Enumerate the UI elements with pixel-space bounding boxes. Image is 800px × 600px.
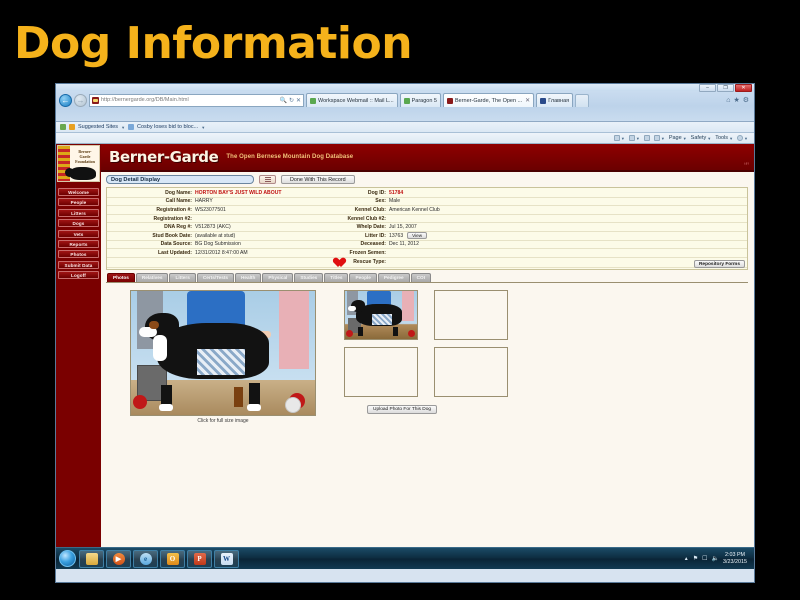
powerpoint-icon: P [194,553,206,565]
outlook-icon: O [167,553,179,565]
chrome-right-icons: ⌂ ★ ⚙ [726,96,752,104]
volume-icon[interactable]: 🔈 [712,555,719,562]
internet-explorer-icon: e [140,553,152,565]
red-heart-icon [335,258,346,268]
chevron-down-icon: ▼ [636,136,640,141]
table-row: Dog Name:HORTON BAY'S JUST WILD ABOUT Do… [107,189,747,198]
tab-label: Workspace Webmail :: Mail L... [318,98,394,104]
list-view-bars [265,177,271,182]
browser-tab-glavnaya[interactable]: Главная [536,93,573,107]
word-icon: W [221,553,233,565]
repository-forms-button[interactable]: Repository Forms [694,260,745,268]
field-value-data-source: BG Dog Submission [195,241,241,247]
field-value-litter-id: 13763 [389,233,403,239]
page-title: Dog Information [14,18,412,69]
command-print[interactable]: ▼ [654,135,665,141]
home-icon[interactable] [60,124,66,130]
taskbar-outlook[interactable]: O [160,550,185,568]
address-bar[interactable]: http://bernergarde.org/DB/Main.html 🔍 ↻ … [89,94,304,107]
command-page-menu[interactable]: Page▼ [669,135,687,141]
tab-physical[interactable]: Physical [262,273,293,282]
show-hidden-icon[interactable]: ▲ [684,556,689,562]
browser-chrome: – ❐ ✕ ← → http://bernergarde.org/DB/Main… [56,84,754,122]
feeds-icon [629,135,635,141]
photo-thumbnail-1[interactable] [344,290,418,340]
bernergarde-favicon [92,97,99,104]
tab-litters[interactable]: Litters [169,273,195,282]
photo-slot-empty-2[interactable] [344,347,418,397]
sidebar-item-vets[interactable]: Vets [58,230,99,238]
table-row: Registration #:WS23077501 Kennel Club:Am… [107,206,747,215]
field-value-deceased: Dec 11, 2012 [389,241,419,247]
sidebar-item-submit-data[interactable]: Submit Data [58,261,99,269]
sidebar-item-logoff[interactable]: Logoff [58,271,99,279]
field-value-dog-id: 51784 [389,190,403,196]
sidebar-nav: Welcome People Litters Dogs Vets Reports… [58,188,99,282]
record-toolbar: Dog Detail Display Done With This Record [106,175,748,184]
site-main: Berner-Garde The Open Bernese Mountain D… [101,144,754,547]
photo-slot-empty-3[interactable] [434,347,508,397]
window-controls: – ❐ ✕ [699,84,752,92]
field-label-deceased: Deceased: [305,241,389,247]
taskbar-word[interactable]: W [214,550,239,568]
banner-corner-mark: “” [744,161,748,171]
logo-text: Berner- Garde Foundation [71,149,99,164]
table-row: Rescue Type: [107,258,747,268]
presentation-slide: Dog Information – ❐ ✕ ← → http://bernerg… [0,0,800,600]
browser-tab-berner-garde[interactable]: Berner-Garde, The Open ... ✕ [443,93,534,107]
media-player-icon: ▶ [113,553,125,565]
close-tab-icon[interactable]: ✕ [525,97,530,104]
field-label-last-updated: Last Updated: [109,250,195,256]
thumbnail-row [344,290,534,340]
windows-start-orb[interactable] [59,550,76,567]
table-row: Call Name:HARRY Sex:Male [107,198,747,207]
detail-tabstrip: Photos Relatives Litters Certs/Tests Hea… [106,273,748,283]
site-wordmark: Berner-Garde [109,148,218,166]
tab-titles[interactable]: Titles [324,273,348,282]
bernese-dog-icon [70,167,96,180]
chevron-down-icon[interactable]: ▼ [121,125,125,130]
upload-photo-button[interactable]: Upload Photo For This Dog [367,405,437,414]
network-flag-icon[interactable]: ⚑ [693,555,698,562]
field-value-call-name: HARRY [195,198,213,204]
command-tools-menu[interactable]: Tools▼ [715,135,733,141]
ru-site-icon [540,98,546,104]
dog-detail-table: Dog Name:HORTON BAY'S JUST WILD ABOUT Do… [106,187,748,270]
command-feeds[interactable]: ▼ [629,135,640,141]
field-label-kennel-club: Kennel Club: [305,207,389,213]
logo-line-3: Foundation [75,159,95,164]
display-mode-field[interactable]: Dog Detail Display [106,175,254,184]
sidebar-item-dogs[interactable]: Dogs [58,219,99,227]
command-page-label: Page [669,135,682,141]
tab-label: Berner-Garde, The Open ... [455,98,522,104]
tab-pedigree[interactable]: Pedigree [378,273,410,282]
chevron-down-icon[interactable]: ▼ [201,125,205,130]
favorite-cosby-link[interactable]: Cosby loses bid to bloc... [137,124,198,130]
chevron-down-icon: ▼ [729,136,733,141]
field-label-whelp-date: Whelp Date: [305,224,389,230]
table-row: Stud Book Date:(available at stud) Litte… [107,232,747,241]
taskbar-clock[interactable]: 2:03 PM 3/23/2015 [723,552,747,566]
clock-date: 3/23/2015 [723,559,747,565]
browser-nav-row: ← → http://bernergarde.org/DB/Main.html … [56,91,754,108]
field-label-dog-name: Dog Name: [109,190,195,196]
favorites-star-icon[interactable]: ★ [733,96,739,104]
favorite-suggested-sites[interactable]: Suggested Sites [78,124,118,130]
chevron-down-icon: ▼ [621,136,625,141]
window-title-bar: – ❐ ✕ [56,84,754,91]
field-label-litter-id: Litter ID: [305,233,389,239]
address-text: http://bernergarde.org/DB/Main.html [101,97,189,103]
browser-tab-workspace-webmail[interactable]: Workspace Webmail :: Mail L... [306,93,398,107]
sidebar-item-photos[interactable]: Photos [58,250,99,258]
explorer-folder-icon [86,553,98,565]
field-label-registration: Registration #: [109,207,195,213]
chevron-down-icon: ▼ [707,136,711,141]
command-safety-menu[interactable]: Safety▼ [691,135,712,141]
address-bar-icons: 🔍 ↻ ✕ [279,97,301,104]
new-tab-button[interactable] [575,94,589,107]
refresh-icon[interactable]: ↻ [289,97,294,104]
site-banner: Berner-Garde The Open Bernese Mountain D… [101,144,754,172]
view-litter-button[interactable]: View [407,232,427,239]
field-label-sex: Sex: [305,198,389,204]
browser-tab-paragon-5[interactable]: Paragon 5 [400,93,441,107]
chevron-down-icon: ▼ [744,136,748,141]
field-value-sex: Male [389,198,400,204]
print-icon [654,135,660,141]
field-value-registration: WS23077501 [195,207,226,213]
tab-relatives[interactable]: Relatives [136,273,169,282]
main-dog-photo[interactable] [130,290,316,416]
forward-arrow-icon[interactable]: → [74,94,87,107]
field-value-dna-reg: V512873 (AKC) [195,224,231,230]
table-row: Data Source:BG Dog Submission Deceased:D… [107,241,747,250]
page-icon [128,124,134,130]
taskbar-media-player[interactable]: ▶ [106,550,131,568]
main-photo-block: Click for full size image [130,290,316,424]
tab-studies[interactable]: Studies [294,273,323,282]
chevron-down-icon: ▼ [661,136,665,141]
command-home[interactable]: ▼ [614,135,625,141]
favorites-bar: Suggested Sites ▼ Cosby loses bid to blo… [56,122,754,133]
tab-photos[interactable]: Photos [107,273,135,282]
field-value-dog-name: HORTON BAY'S JUST WILD ABOUT [195,190,282,196]
tab-health[interactable]: Health [235,273,261,282]
page-icon [310,98,316,104]
search-icon[interactable]: 🔍 [279,97,286,104]
page-content: Berner- Garde Foundation Welcome People … [56,144,754,547]
back-arrow-icon[interactable]: ← [59,94,72,107]
taskbar-powerpoint[interactable]: P [187,550,212,568]
field-value-whelp-date: Jul 15, 2007 [389,224,417,230]
tab-label: Главная [548,98,569,104]
field-label-kennel-club-2: Kennel Club #2: [305,216,389,222]
field-value-kennel-club: American Kennel Club [389,207,440,213]
taskbar-internet-explorer[interactable]: e [133,550,158,568]
field-label-frozen-semen: Frozen Semen: [305,250,389,256]
maximize-button[interactable]: ❐ [717,84,734,92]
site-tagline: The Open Bernese Mountain Dog Database [226,154,353,161]
field-label-dog-id: Dog ID: [305,190,389,196]
suggested-sites-icon [69,124,75,130]
field-label-dna-reg: DNA Reg #: [109,224,195,230]
berner-garde-logo[interactable]: Berner- Garde Foundation [57,145,100,182]
command-tools-label: Tools [715,135,728,141]
settings-gear-icon[interactable]: ⚙ [743,96,749,104]
home-icon[interactable]: ⌂ [726,97,730,104]
thumbnail-row [344,347,534,397]
minimize-button[interactable]: – [699,84,716,92]
sidebar-item-welcome[interactable]: Welcome [58,188,99,196]
command-bar: ▼ ▼ ▼ Page▼ Safety▼ Tools▼ ▼ [56,133,754,144]
main-photo-caption: Click for full size image [130,418,316,424]
field-label-registration-2: Registration #2: [109,216,195,222]
thumbnail-grid [344,290,534,404]
field-value-last-updated: 12/31/2012 8:47:00 AM [195,250,248,256]
close-button[interactable]: ✕ [735,84,752,92]
list-view-icon[interactable] [259,175,276,184]
windows-taskbar: ▶ e O P W ▲ ⚑ ☐ 🔈 2:03 PM 3/23/2015 [56,547,754,569]
field-label-call-name: Call Name: [109,198,195,204]
site-sidebar: Berner- Garde Foundation Welcome People … [56,144,101,547]
bernergarde-favicon [447,98,453,104]
table-row: Last Updated:12/31/2012 8:47:00 AM Froze… [107,249,747,258]
chevron-down-icon: ▼ [683,136,687,141]
photo-slot-empty-1[interactable] [434,290,508,340]
home-icon [614,135,620,141]
taskbar-explorer[interactable] [79,550,104,568]
tab-label: Paragon 5 [412,98,437,104]
table-row: DNA Reg #:V512873 (AKC) Whelp Date:Jul 1… [107,223,747,232]
command-mail[interactable] [644,135,650,141]
field-label-rescue-type: Rescue Type: [305,259,389,265]
system-tray: ▲ ⚑ ☐ 🔈 2:03 PM 3/23/2015 [684,552,751,566]
page-icon [404,98,410,104]
field-value-stud-book-date: (available at stud) [195,233,235,239]
command-help[interactable]: ▼ [737,135,748,141]
tab-certs-tests[interactable]: Certs/Tests [197,273,234,282]
tab-coi[interactable]: COI [411,273,431,282]
clock-time: 2:03 PM [725,552,745,558]
done-with-record-button[interactable]: Done With This Record [281,175,355,184]
sidebar-item-reports[interactable]: Reports [58,240,99,248]
action-center-icon[interactable]: ☐ [702,555,707,562]
detail-content: Dog Detail Display Done With This Record… [101,172,754,547]
help-icon [737,135,743,141]
sidebar-item-litters[interactable]: Litters [58,209,99,217]
command-safety-label: Safety [691,135,707,141]
mail-icon [644,135,650,141]
stop-icon[interactable]: ✕ [296,97,301,104]
field-label-stud-book-date: Stud Book Date: [109,233,195,239]
sidebar-item-people[interactable]: People [58,198,99,206]
browser-window: – ❐ ✕ ← → http://bernergarde.org/DB/Main… [55,83,755,583]
table-row: Registration #2: Kennel Club #2: [107,215,747,224]
tab-people[interactable]: People [349,273,376,282]
photos-panel: Click for full size image [106,283,748,289]
field-label-data-source: Data Source: [109,241,195,247]
